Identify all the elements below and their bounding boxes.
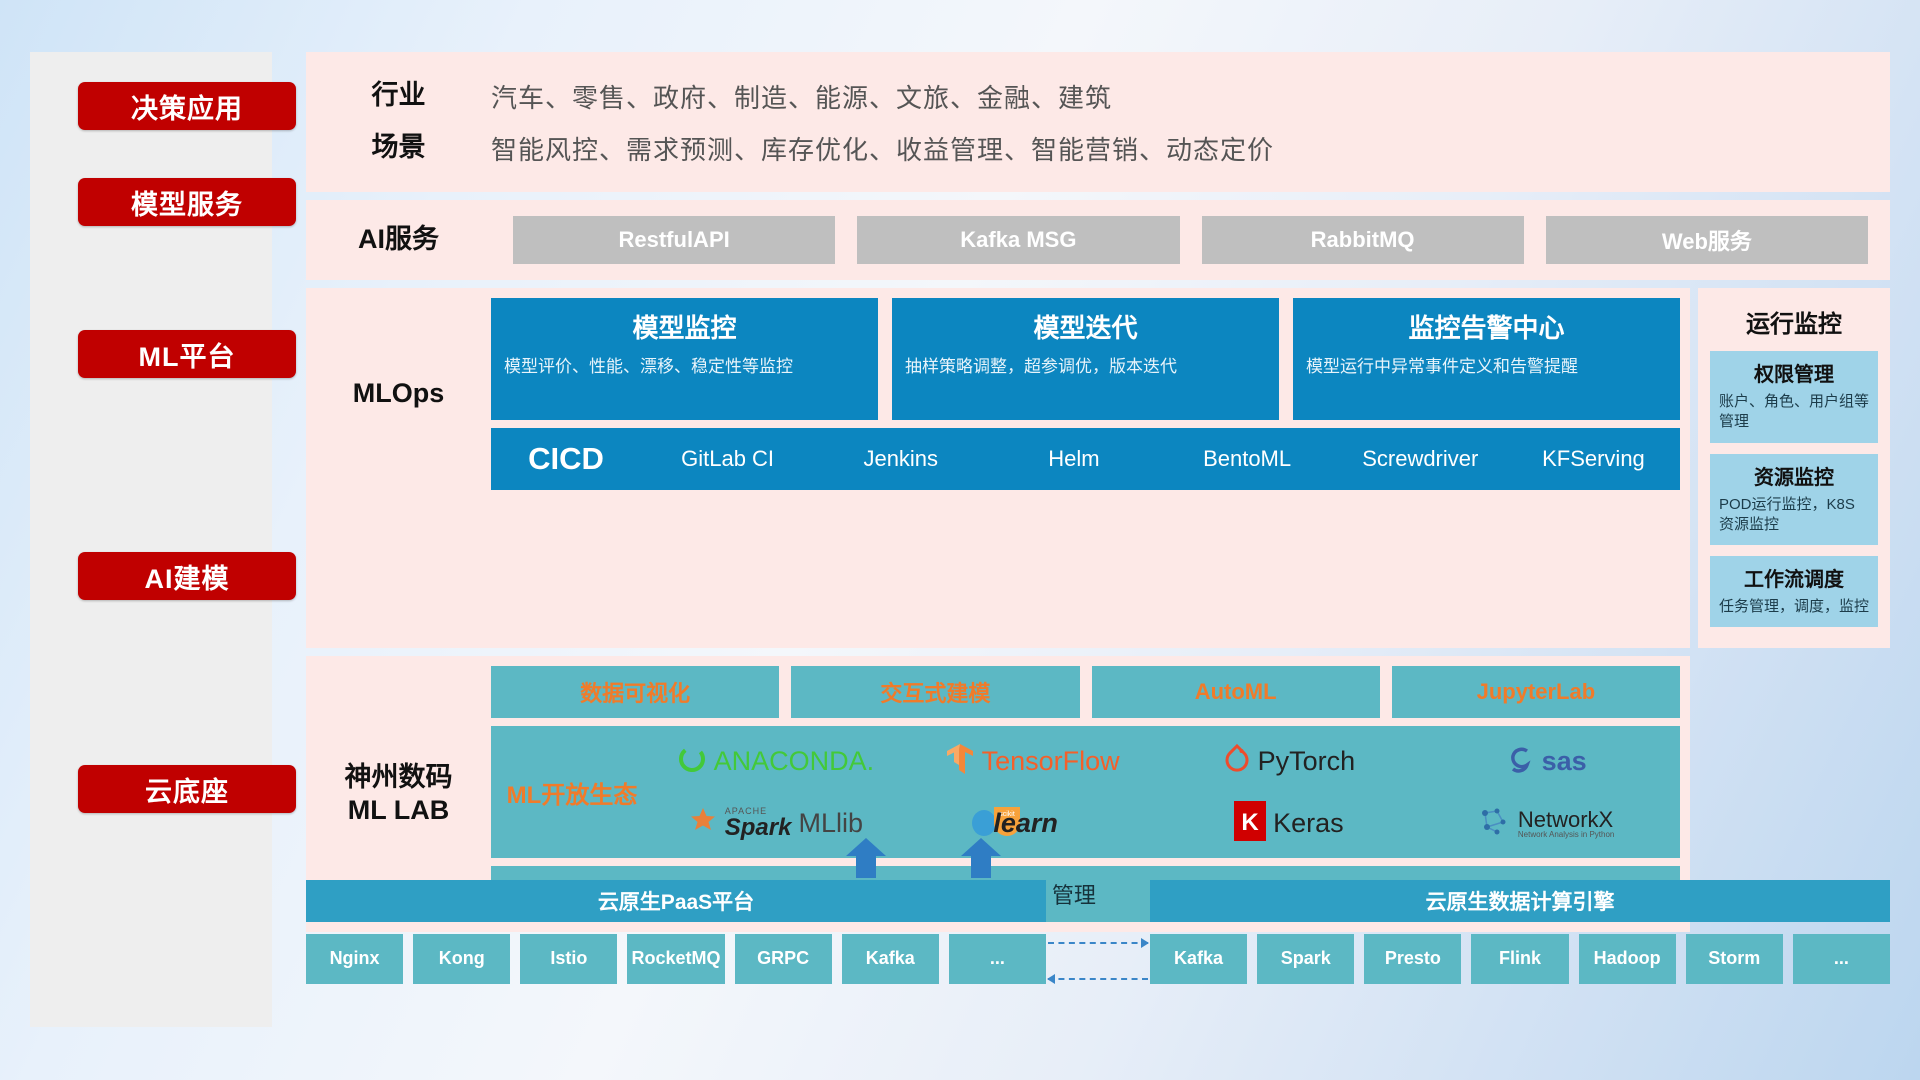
card-desc: 模型运行中异常事件定义和告警提醒 xyxy=(1306,355,1667,379)
engine-chip-kafka[interactable]: Kafka xyxy=(1150,934,1247,984)
sas-icon xyxy=(1505,744,1535,779)
service-rabbitmq[interactable]: RabbitMQ xyxy=(1202,216,1524,264)
paas-chip-rocketmq[interactable]: RocketMQ xyxy=(627,934,724,984)
logo-label: PyTorch xyxy=(1258,746,1356,777)
scenario-row: 场景 智能风控、需求预测、库存优化、收益管理、智能营销、动态定价 xyxy=(306,122,1876,174)
networkx-sub-label: Network Analysis in Python xyxy=(1518,831,1615,839)
spark-icon xyxy=(688,806,718,841)
paas-title: 云原生PaaS平台 xyxy=(306,880,1046,922)
logo-label: Keras xyxy=(1273,808,1344,839)
engine-chip-presto[interactable]: Presto xyxy=(1364,934,1461,984)
card-title: 工作流调度 xyxy=(1719,563,1869,592)
main-column: 行业 汽车、零售、政府、制造、能源、文旅、金融、建筑 场景 智能风控、需求预测、… xyxy=(306,52,1890,932)
card-title: 监控告警中心 xyxy=(1306,308,1667,345)
logo-label: NetworkX xyxy=(1518,808,1615,831)
ai-service-band: AI服务 RestfulAPI Kafka MSG RabbitMQ Web服务 xyxy=(306,200,1890,280)
bidirectional-link xyxy=(1046,880,1150,984)
ml-ecosystem-row: ML开放生态 ANACONDA. xyxy=(491,726,1680,858)
logo-label: learn xyxy=(993,808,1058,839)
logo-networkx: NetworkX Network Analysis in Python xyxy=(1477,805,1615,842)
cicd-item-kfserving[interactable]: KFServing xyxy=(1507,447,1680,470)
card-title: 模型迭代 xyxy=(905,308,1266,345)
service-kafka-msg[interactable]: Kafka MSG xyxy=(857,216,1179,264)
mlops-label: MLOps xyxy=(306,298,491,490)
engine-chip-hadoop[interactable]: Hadoop xyxy=(1579,934,1676,984)
mlops-card-model-iteration[interactable]: 模型迭代 抽样策略调整，超参调优，版本迭代 xyxy=(892,298,1279,420)
monitor-card-resource[interactable]: 资源监控 POD运行监控，K8S资源监控 xyxy=(1710,454,1878,546)
arrow-up-engine-icon xyxy=(846,838,886,878)
mlops-card-model-monitoring[interactable]: 模型监控 模型评价、性能、漂移、稳定性等监控 xyxy=(491,298,878,420)
mlops-card-alert-center[interactable]: 监控告警中心 模型运行中异常事件定义和告警提醒 xyxy=(1293,298,1680,420)
tensorflow-icon xyxy=(945,742,975,781)
engine-chip-flink[interactable]: Flink xyxy=(1471,934,1568,984)
card-desc: 模型评价、性能、漂移、稳定性等监控 xyxy=(504,355,865,379)
logo-sas: sas xyxy=(1505,744,1587,779)
card-title: 模型监控 xyxy=(504,308,865,345)
monitor-panel-title: 运行监控 xyxy=(1710,304,1878,339)
lab-tab-data-visualization[interactable]: 数据可视化 xyxy=(491,666,779,718)
arrow-up-paas-icon xyxy=(961,838,1001,878)
spark-word: Spark xyxy=(725,816,792,840)
paas-group: 云原生PaaS平台 Nginx Kong Istio RocketMQ GRPC… xyxy=(306,880,1046,984)
paas-chip-kong[interactable]: Kong xyxy=(413,934,510,984)
logo-label: ANACONDA. xyxy=(714,746,875,777)
data-engine-group: 云原生数据计算引擎 Kafka Spark Presto Flink Hadoo… xyxy=(1150,880,1890,984)
cicd-item-screwdriver[interactable]: Screwdriver xyxy=(1334,447,1507,470)
logo-keras: K Keras xyxy=(1234,801,1344,846)
scenario-label: 场景 xyxy=(306,131,491,165)
cicd-title: CICD xyxy=(491,441,641,477)
layer-pill-model-service[interactable]: 模型服务 xyxy=(78,178,296,226)
layer-label: 决策应用 xyxy=(131,87,243,126)
cloud-base-section: 云原生PaaS平台 Nginx Kong Istio RocketMQ GRPC… xyxy=(306,880,1890,984)
runtime-monitor-panel: 运行监控 权限管理 账户、角色、用户组等管理 资源监控 POD运行监控，K8S资… xyxy=(1698,288,1890,648)
industry-label: 行业 xyxy=(306,79,491,113)
cicd-item-gitlab-ci[interactable]: GitLab CI xyxy=(641,447,814,470)
ml-lab-label-line2: ML LAB xyxy=(348,794,450,828)
logo-label: sas xyxy=(1542,746,1587,777)
engine-chip-spark[interactable]: Spark xyxy=(1257,934,1354,984)
logo-tensorflow: TensorFlow xyxy=(945,742,1120,781)
layer-pill-ml-platform[interactable]: ML平台 xyxy=(78,330,296,378)
pytorch-icon xyxy=(1223,743,1251,780)
layer-pill-cloud-base[interactable]: 云底座 xyxy=(78,765,296,813)
service-web[interactable]: Web服务 xyxy=(1546,216,1868,264)
lab-tab-interactive-modeling[interactable]: 交互式建模 xyxy=(791,666,1079,718)
cicd-bar: CICD GitLab CI Jenkins Helm BentoML Scre… xyxy=(491,428,1680,490)
logo-anaconda: ANACONDA. xyxy=(677,744,875,779)
layer-label: 模型服务 xyxy=(131,183,243,222)
layer-pill-ai-modeling[interactable]: AI建模 xyxy=(78,552,296,600)
networkx-icon xyxy=(1477,805,1511,842)
logo-pytorch: PyTorch xyxy=(1223,743,1356,780)
layer-label: 云底座 xyxy=(145,770,229,809)
scenario-text: 智能风控、需求预测、库存优化、收益管理、智能营销、动态定价 xyxy=(491,130,1274,167)
logo-label: TensorFlow xyxy=(982,746,1120,777)
mlops-band: MLOps 模型监控 模型评价、性能、漂移、稳定性等监控 模型迭代 抽样策略调整… xyxy=(306,288,1690,648)
paas-chip-kafka[interactable]: Kafka xyxy=(842,934,939,984)
layer-label: ML平台 xyxy=(139,335,236,374)
engine-chip-more[interactable]: ... xyxy=(1793,934,1890,984)
ml-lab-label-line1: 神州数码 xyxy=(345,761,453,795)
card-desc: POD运行监控，K8S资源监控 xyxy=(1719,495,1869,536)
logo-spark-mllib: APACHE Spark MLlib xyxy=(688,806,863,841)
cicd-item-helm[interactable]: Helm xyxy=(987,447,1160,470)
cicd-item-bentoml[interactable]: BentoML xyxy=(1161,447,1334,470)
card-title: 资源监控 xyxy=(1719,461,1869,490)
monitor-card-permission[interactable]: 权限管理 账户、角色、用户组等管理 xyxy=(1710,351,1878,443)
svg-text:K: K xyxy=(1241,809,1259,836)
layer-rail: 决策应用 模型服务 ML平台 AI建模 云底座 xyxy=(30,52,272,1027)
paas-chip-nginx[interactable]: Nginx xyxy=(306,934,403,984)
monitor-card-workflow[interactable]: 工作流调度 任务管理，调度，监控 xyxy=(1710,556,1878,627)
dash-arrow-right-icon xyxy=(1048,942,1148,944)
ml-platform-section: MLOps 模型监控 模型评价、性能、漂移、稳定性等监控 模型迭代 抽样策略调整… xyxy=(306,288,1890,648)
lab-tab-automl[interactable]: AutoML xyxy=(1092,666,1380,718)
dash-arrow-left-icon xyxy=(1048,978,1148,980)
industry-row: 行业 汽车、零售、政府、制造、能源、文旅、金融、建筑 xyxy=(306,70,1876,122)
lab-tab-jupyterlab[interactable]: JupyterLab xyxy=(1392,666,1680,718)
architecture-diagram: 决策应用 模型服务 ML平台 AI建模 云底座 行业 汽车、零售、政府、制造、能… xyxy=(0,0,1920,1080)
engine-title: 云原生数据计算引擎 xyxy=(1150,880,1890,922)
anaconda-icon xyxy=(677,744,707,779)
ml-ecosystem-label: ML开放生态 xyxy=(497,775,647,810)
card-desc: 抽样策略调整，超参调优，版本迭代 xyxy=(905,355,1266,379)
cicd-item-jenkins[interactable]: Jenkins xyxy=(814,447,987,470)
card-desc: 任务管理，调度，监控 xyxy=(1719,597,1869,617)
paas-chip-grpc[interactable]: GRPC xyxy=(735,934,832,984)
layer-label: AI建模 xyxy=(145,557,230,596)
engine-chip-storm[interactable]: Storm xyxy=(1686,934,1783,984)
card-desc: 账户、角色、用户组等管理 xyxy=(1719,392,1869,433)
layer-pill-decision[interactable]: 决策应用 xyxy=(78,82,296,130)
paas-chip-istio[interactable]: Istio xyxy=(520,934,617,984)
service-restful-api[interactable]: RestfulAPI xyxy=(513,216,835,264)
keras-icon: K xyxy=(1234,801,1266,846)
logo-label: MLlib xyxy=(798,808,863,839)
paas-chip-more[interactable]: ... xyxy=(949,934,1046,984)
business-band: 行业 汽车、零售、政府、制造、能源、文旅、金融、建筑 场景 智能风控、需求预测、… xyxy=(306,52,1890,192)
industry-text: 汽车、零售、政府、制造、能源、文旅、金融、建筑 xyxy=(491,78,1112,115)
ai-service-label: AI服务 xyxy=(306,223,491,257)
card-title: 权限管理 xyxy=(1719,358,1869,387)
